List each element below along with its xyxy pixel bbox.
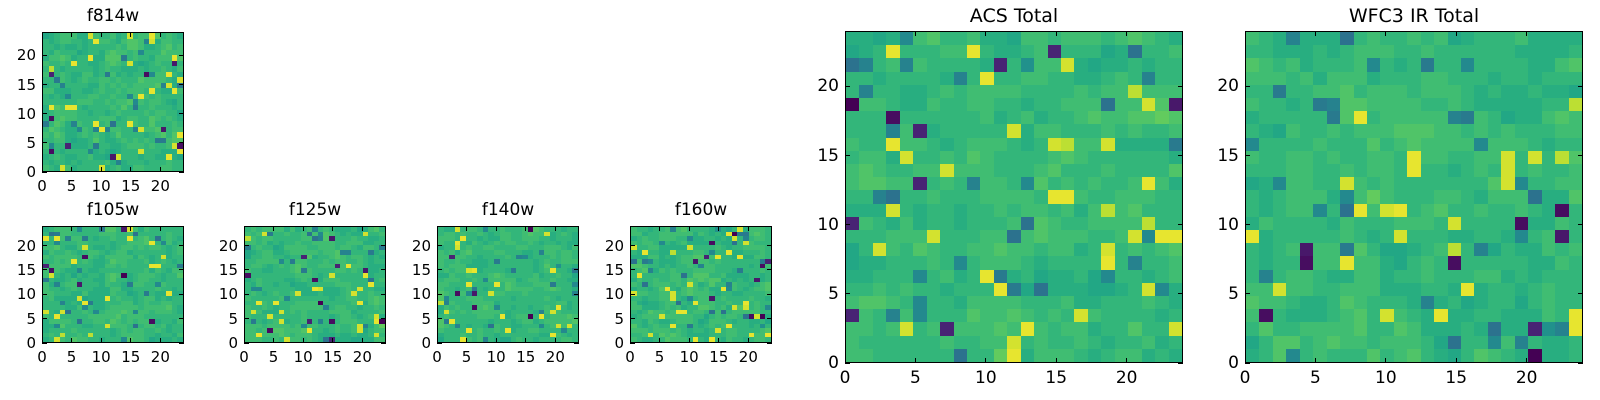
heatmap-acs-total [845, 31, 1183, 363]
x-tick-mark [1456, 358, 1457, 363]
panel-f125w: f125w0510152005101520 [198, 200, 386, 369]
y-tick-mark [630, 318, 635, 319]
y-tick-mark [42, 269, 47, 270]
x-tick-mark [985, 31, 986, 36]
y-tick-mark [1578, 363, 1583, 364]
y-tick-mark [42, 172, 47, 173]
panel-title-f160w: f160w [630, 202, 772, 219]
y-tick-mark [767, 269, 772, 270]
y-tick-mark [42, 245, 47, 246]
y-tick-mark [42, 55, 47, 56]
x-tick-mark [101, 167, 102, 172]
x-tick-mark [101, 32, 102, 37]
panel-title-f814w: f814w [42, 8, 184, 25]
x-tick-label: 20 [140, 350, 180, 365]
y-tick-mark [437, 318, 442, 319]
y-tick-label: 20 [584, 239, 624, 254]
x-tick-mark [1126, 31, 1127, 36]
y-tick-mark [381, 318, 386, 319]
panel-f105w: f105w0510152005101520 [0, 200, 184, 369]
y-tick-mark [630, 294, 635, 295]
y-tick-mark [437, 343, 442, 344]
y-tick-mark [1178, 293, 1183, 294]
y-tick-mark [381, 343, 386, 344]
y-tick-mark [1578, 86, 1583, 87]
x-tick-mark [71, 167, 72, 172]
y-tick-mark [630, 269, 635, 270]
x-tick-label: 20 [1507, 370, 1547, 387]
x-tick-mark [1245, 31, 1246, 36]
x-tick-mark [466, 338, 467, 343]
x-tick-mark [1385, 358, 1386, 363]
y-tick-mark [244, 245, 249, 246]
x-tick-mark [718, 226, 719, 231]
x-tick-mark [659, 226, 660, 231]
x-tick-mark [303, 338, 304, 343]
x-tick-mark [689, 338, 690, 343]
x-tick-mark [496, 338, 497, 343]
y-tick-mark [244, 318, 249, 319]
y-tick-label: 15 [391, 263, 431, 278]
x-tick-mark [1056, 358, 1057, 363]
y-tick-mark [244, 294, 249, 295]
x-tick-mark [42, 32, 43, 37]
y-tick-label: 0 [0, 336, 36, 351]
y-tick-label: 0 [391, 336, 431, 351]
y-tick-mark [767, 245, 772, 246]
y-tick-label: 5 [1199, 286, 1239, 303]
heatmap-f105w [42, 226, 184, 343]
y-tick-mark [630, 245, 635, 246]
x-tick-mark [244, 226, 245, 231]
x-tick-mark [525, 338, 526, 343]
x-tick-mark [748, 226, 749, 231]
x-tick-mark [130, 226, 131, 231]
y-tick-mark [381, 294, 386, 295]
panel-title-f125w: f125w [244, 202, 386, 219]
heatmap-f140w [437, 226, 579, 343]
x-tick-mark [915, 358, 916, 363]
heatmap-f160w [630, 226, 772, 343]
y-tick-mark [244, 269, 249, 270]
y-tick-mark [574, 318, 579, 319]
x-tick-label: 5 [895, 370, 935, 387]
x-tick-mark [845, 31, 846, 36]
y-tick-mark [244, 343, 249, 344]
panel-title-f105w: f105w [42, 202, 184, 219]
y-tick-mark [42, 294, 47, 295]
x-tick-mark [160, 338, 161, 343]
y-tick-mark [42, 113, 47, 114]
y-tick-mark [179, 142, 184, 143]
y-tick-mark [1178, 155, 1183, 156]
heatmap-wfc3-ir-total [1245, 31, 1583, 363]
panel-title-wfc3-ir-total: WFC3 IR Total [1245, 7, 1583, 26]
panel-title-acs-total: ACS Total [845, 7, 1183, 26]
y-tick-mark [845, 155, 850, 156]
y-tick-label: 10 [799, 217, 839, 234]
panel-f814w: f814w0510152005101520 [0, 6, 184, 198]
y-tick-label: 20 [1199, 78, 1239, 95]
y-tick-mark [179, 245, 184, 246]
x-tick-label: 20 [728, 350, 768, 365]
y-tick-mark [1245, 155, 1250, 156]
y-tick-label: 10 [0, 287, 36, 302]
y-tick-label: 15 [584, 263, 624, 278]
x-tick-mark [1126, 358, 1127, 363]
y-tick-label: 5 [198, 312, 238, 327]
x-tick-mark [130, 167, 131, 172]
y-tick-mark [1178, 86, 1183, 87]
x-tick-mark [689, 226, 690, 231]
y-tick-mark [42, 343, 47, 344]
y-tick-label: 15 [0, 78, 36, 93]
x-tick-mark [362, 338, 363, 343]
x-tick-label: 20 [140, 179, 180, 194]
heatmap-f814w [42, 32, 184, 172]
y-tick-label: 20 [799, 78, 839, 95]
y-tick-mark [767, 343, 772, 344]
y-tick-label: 0 [0, 165, 36, 180]
y-tick-mark [845, 363, 850, 364]
x-tick-mark [1315, 358, 1316, 363]
y-tick-mark [1578, 293, 1583, 294]
x-tick-mark [332, 338, 333, 343]
y-tick-mark [845, 86, 850, 87]
y-tick-mark [437, 269, 442, 270]
x-tick-mark [1315, 31, 1316, 36]
x-tick-mark [659, 338, 660, 343]
y-tick-mark [1245, 363, 1250, 364]
y-tick-mark [574, 245, 579, 246]
x-tick-label: 15 [1436, 370, 1476, 387]
y-tick-mark [1245, 224, 1250, 225]
y-tick-label: 0 [198, 336, 238, 351]
x-tick-mark [130, 32, 131, 37]
x-tick-mark [496, 226, 497, 231]
x-tick-mark [303, 226, 304, 231]
y-tick-mark [767, 294, 772, 295]
x-tick-label: 20 [1107, 370, 1147, 387]
y-tick-mark [574, 343, 579, 344]
x-tick-mark [466, 226, 467, 231]
x-tick-mark [555, 226, 556, 231]
y-tick-mark [437, 294, 442, 295]
y-tick-mark [1245, 86, 1250, 87]
x-tick-label: 15 [1036, 370, 1076, 387]
x-tick-mark [101, 338, 102, 343]
x-tick-mark [1456, 31, 1457, 36]
x-tick-mark [362, 226, 363, 231]
y-tick-label: 10 [0, 107, 36, 122]
y-tick-mark [179, 55, 184, 56]
x-tick-label: 20 [535, 350, 575, 365]
y-tick-mark [179, 113, 184, 114]
y-tick-mark [437, 245, 442, 246]
y-tick-mark [381, 269, 386, 270]
y-tick-mark [179, 269, 184, 270]
y-tick-label: 20 [391, 239, 431, 254]
y-tick-label: 5 [0, 312, 36, 327]
x-tick-mark [555, 338, 556, 343]
x-tick-mark [42, 226, 43, 231]
x-tick-mark [915, 31, 916, 36]
x-tick-mark [130, 338, 131, 343]
x-tick-mark [160, 167, 161, 172]
x-tick-mark [160, 32, 161, 37]
x-tick-mark [525, 226, 526, 231]
y-tick-mark [179, 294, 184, 295]
x-tick-mark [1385, 31, 1386, 36]
y-tick-label: 15 [1199, 148, 1239, 165]
y-tick-mark [179, 84, 184, 85]
x-tick-mark [630, 226, 631, 231]
y-tick-label: 0 [1199, 355, 1239, 372]
y-tick-label: 10 [1199, 217, 1239, 234]
panel-f160w: f160w0510152005101520 [584, 200, 772, 369]
y-tick-label: 20 [0, 48, 36, 63]
x-tick-mark [101, 226, 102, 231]
y-tick-label: 0 [799, 355, 839, 372]
panel-title-f140w: f140w [437, 202, 579, 219]
y-tick-label: 5 [799, 286, 839, 303]
x-tick-mark [437, 226, 438, 231]
panel-f140w: f140w0510152005101520 [391, 200, 579, 369]
x-tick-mark [985, 358, 986, 363]
y-tick-label: 15 [799, 148, 839, 165]
y-tick-label: 20 [0, 239, 36, 254]
y-tick-mark [630, 343, 635, 344]
x-tick-mark [718, 338, 719, 343]
panel-wfc3-ir-total: WFC3 IR Total0510152005101520 [1199, 5, 1583, 389]
y-tick-label: 10 [198, 287, 238, 302]
x-tick-mark [71, 32, 72, 37]
heatmap-f125w [244, 226, 386, 343]
y-tick-mark [845, 293, 850, 294]
y-tick-label: 5 [0, 136, 36, 151]
y-tick-mark [1578, 224, 1583, 225]
y-tick-mark [1578, 155, 1583, 156]
y-tick-mark [381, 245, 386, 246]
y-tick-mark [42, 142, 47, 143]
x-tick-mark [1526, 31, 1527, 36]
y-tick-mark [42, 84, 47, 85]
y-tick-label: 0 [584, 336, 624, 351]
y-tick-mark [767, 318, 772, 319]
y-tick-mark [574, 269, 579, 270]
y-tick-mark [574, 294, 579, 295]
x-tick-mark [1526, 358, 1527, 363]
x-tick-label: 5 [1295, 370, 1335, 387]
x-tick-label: 10 [966, 370, 1006, 387]
y-tick-label: 10 [584, 287, 624, 302]
y-tick-label: 15 [0, 263, 36, 278]
y-tick-mark [1178, 224, 1183, 225]
y-tick-label: 15 [198, 263, 238, 278]
y-tick-mark [179, 172, 184, 173]
y-tick-label: 5 [584, 312, 624, 327]
x-tick-mark [273, 338, 274, 343]
y-tick-label: 5 [391, 312, 431, 327]
x-tick-label: 10 [1366, 370, 1406, 387]
x-tick-mark [748, 338, 749, 343]
y-tick-mark [179, 318, 184, 319]
y-tick-label: 10 [391, 287, 431, 302]
y-tick-label: 20 [198, 239, 238, 254]
y-tick-mark [42, 318, 47, 319]
x-tick-mark [1056, 31, 1057, 36]
x-tick-label: 20 [342, 350, 382, 365]
panel-acs-total: ACS Total0510152005101520 [799, 5, 1183, 389]
y-tick-mark [1178, 363, 1183, 364]
y-tick-mark [179, 343, 184, 344]
y-tick-mark [1245, 293, 1250, 294]
x-tick-mark [71, 338, 72, 343]
x-tick-mark [273, 226, 274, 231]
x-tick-mark [160, 226, 161, 231]
x-tick-mark [71, 226, 72, 231]
y-tick-mark [845, 224, 850, 225]
x-tick-mark [332, 226, 333, 231]
